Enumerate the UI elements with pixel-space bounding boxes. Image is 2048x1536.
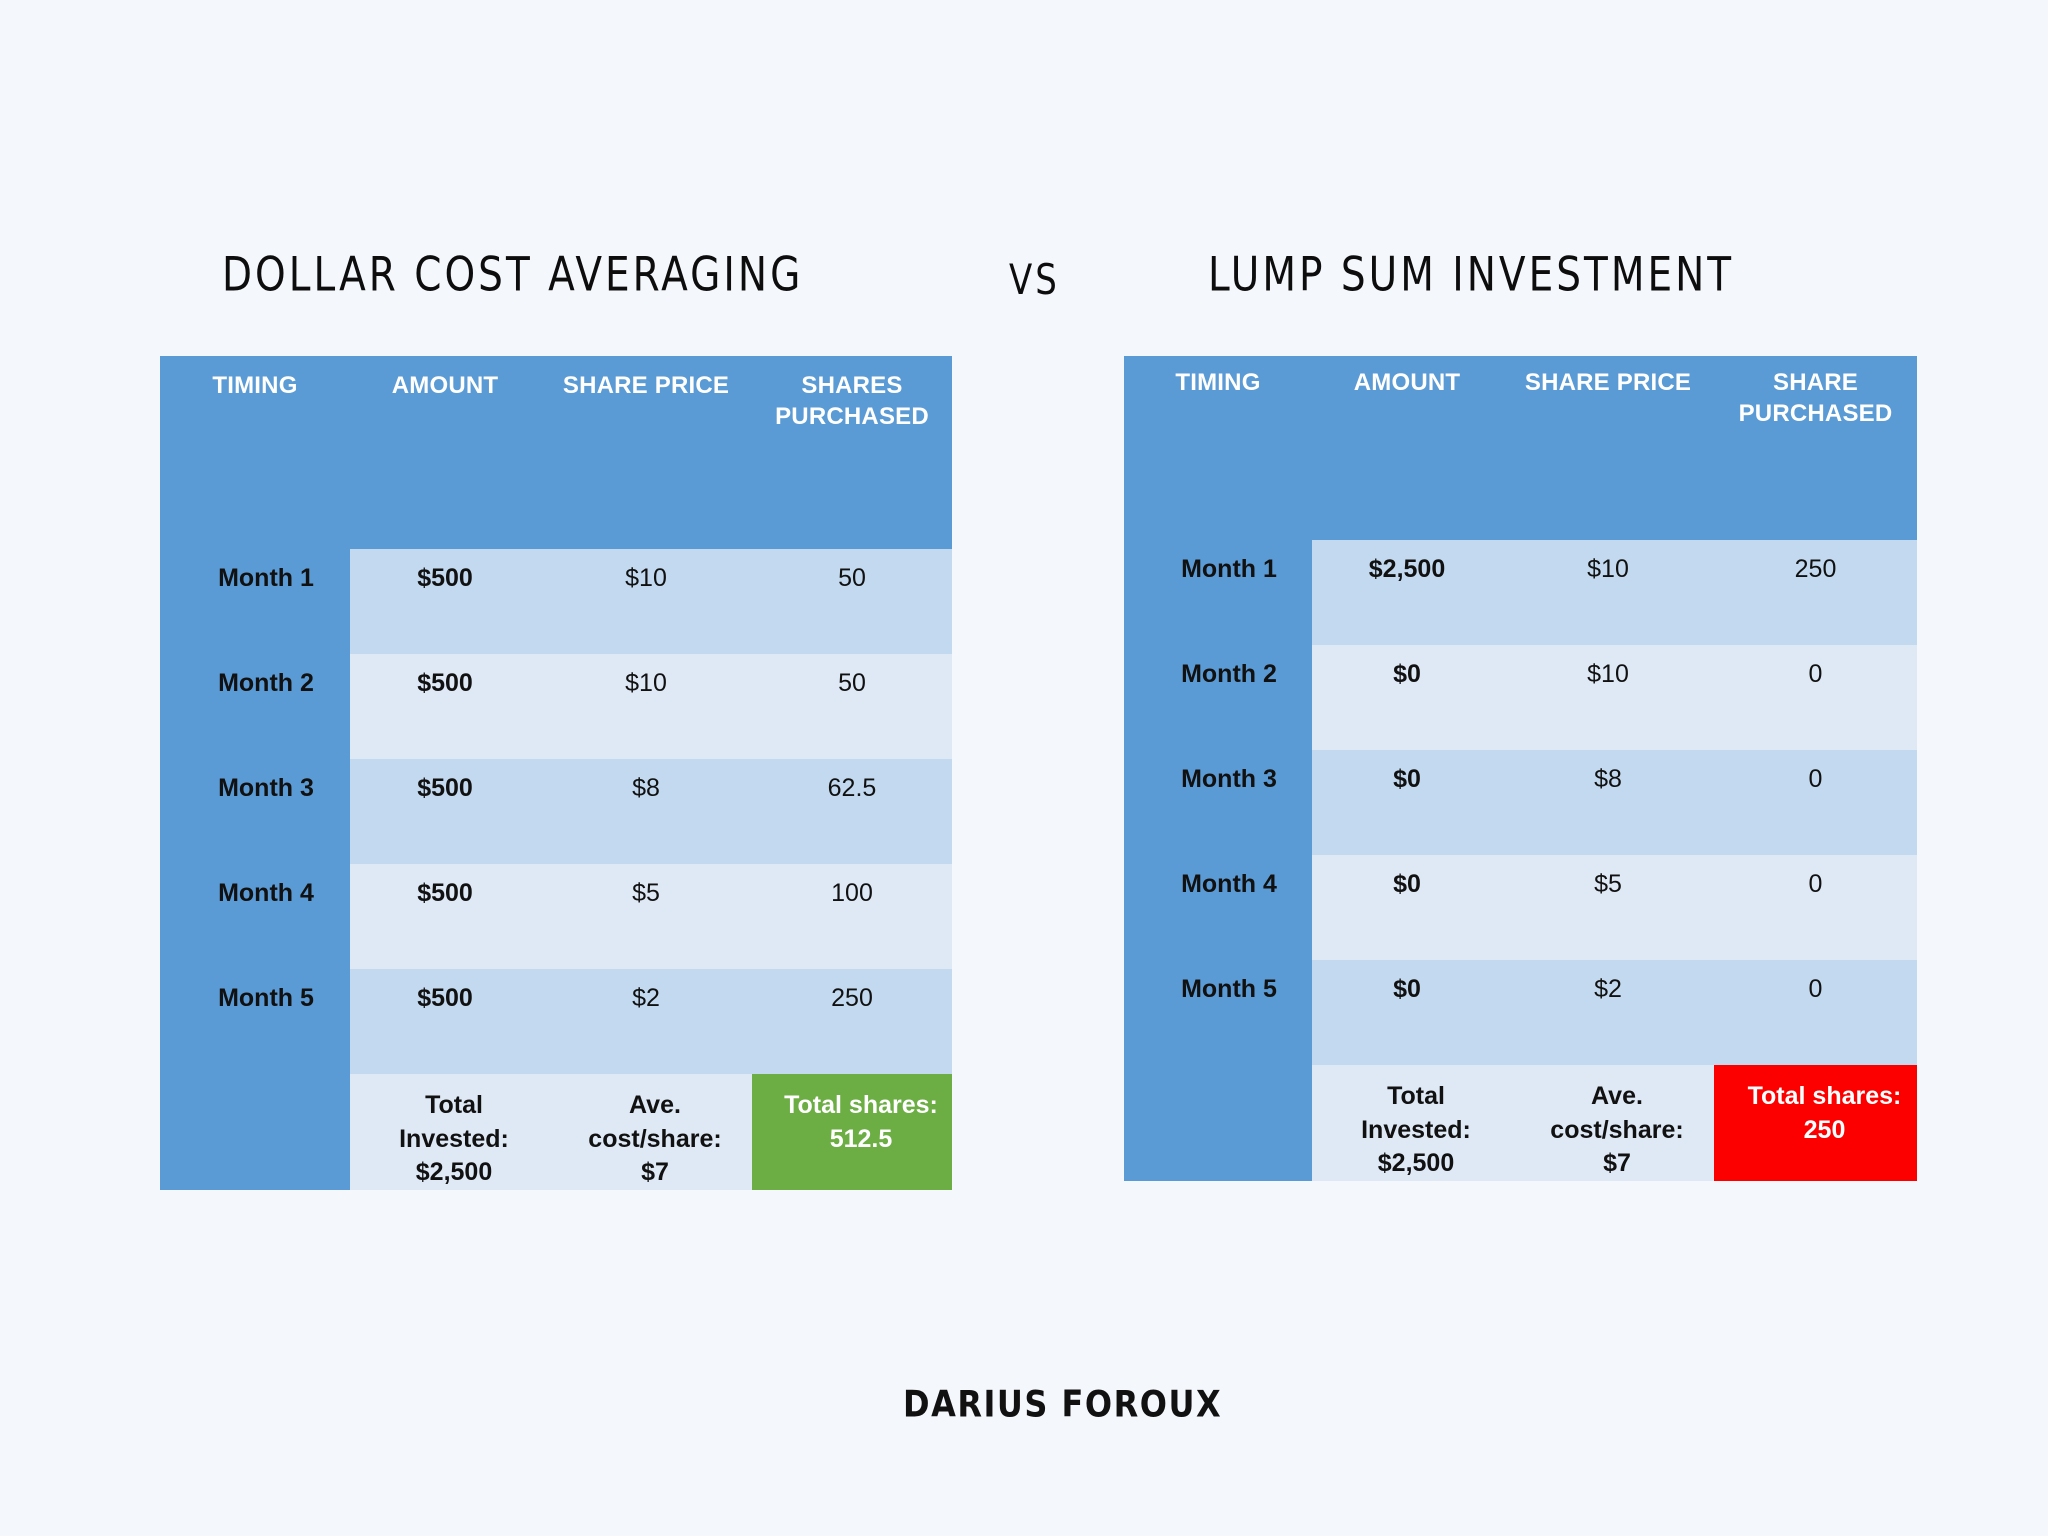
table-header-row: TIMING AMOUNT SHARE PRICE SHARES PURCHAS…: [160, 356, 952, 549]
table-row: Month 1 $2,500 $10 250: [1124, 540, 1917, 645]
column-header-share-price: SHARE PRICE: [1502, 356, 1714, 540]
cell-shares-purchased: 100: [752, 864, 952, 969]
column-header-shares-line2: PURCHASED: [775, 403, 929, 430]
cell-share-price: $10: [540, 654, 752, 759]
cell-amount: $500: [350, 969, 540, 1074]
title-versus: VS: [1009, 256, 1060, 305]
total-avg-line1: Ave.: [629, 1091, 681, 1119]
cell-timing: Month 3: [160, 759, 350, 864]
cell-shares-purchased: 0: [1714, 645, 1917, 750]
cell-timing: Month 3: [1124, 750, 1312, 855]
table-row: Month 3 $500 $8 62.5: [160, 759, 952, 864]
cell-timing: Month 1: [160, 549, 350, 654]
total-shares-label: Total shares:: [784, 1091, 938, 1119]
table-row: Month 1 $500 $10 50: [160, 549, 952, 654]
cell-shares-purchased: 50: [752, 654, 952, 759]
cell-timing: Month 4: [160, 864, 350, 969]
table-row: Month 4 $500 $5 100: [160, 864, 952, 969]
column-header-shares-purchased: SHARES PURCHASED: [752, 356, 952, 549]
cell-shares-purchased: 62.5: [752, 759, 952, 864]
cell-shares-purchased: 0: [1714, 750, 1917, 855]
cell-amount: $500: [350, 549, 540, 654]
total-invested-line1: Total: [425, 1091, 483, 1119]
lump-sum-investment-table: TIMING AMOUNT SHARE PRICE SHARE PURCHASE…: [1124, 356, 1917, 1181]
total-cell-empty: [1124, 1065, 1312, 1181]
cell-amount: $0: [1312, 855, 1502, 960]
cell-amount: $2,500: [1312, 540, 1502, 645]
column-header-shares-line2: PURCHASED: [1739, 400, 1893, 427]
cell-shares-purchased: 250: [752, 969, 952, 1074]
titles-row: DOLLAR COST AVERAGING VS LUMP SUM INVEST…: [0, 248, 2048, 328]
cell-timing: Month 2: [160, 654, 350, 759]
total-avg-line3: $7: [641, 1158, 669, 1186]
total-invested-line3: $2,500: [416, 1158, 492, 1186]
cell-share-price: $10: [1502, 540, 1714, 645]
table-header-row: TIMING AMOUNT SHARE PRICE SHARE PURCHASE…: [1124, 356, 1917, 540]
total-cell-invested: Total Invested: $2,500: [1312, 1065, 1502, 1181]
title-dollar-cost-averaging: DOLLAR COST AVERAGING: [222, 248, 803, 303]
cell-share-price: $5: [1502, 855, 1714, 960]
table-row: Month 4 $0 $5 0: [1124, 855, 1917, 960]
cell-timing: Month 4: [1124, 855, 1312, 960]
table-row: Month 3 $0 $8 0: [1124, 750, 1917, 855]
cell-amount: $0: [1312, 645, 1502, 750]
total-avg-line3: $7: [1603, 1149, 1631, 1177]
table-total-row: Total Invested: $2,500 Ave. cost/share: …: [160, 1074, 952, 1190]
column-header-timing: TIMING: [1124, 356, 1312, 540]
cell-amount: $500: [350, 759, 540, 864]
cell-timing: Month 5: [160, 969, 350, 1074]
cell-share-price: $8: [1502, 750, 1714, 855]
total-avg-line1: Ave.: [1591, 1082, 1643, 1110]
total-invested-line3: $2,500: [1378, 1149, 1454, 1177]
total-cell-empty: [160, 1074, 350, 1190]
total-cell-shares-highlight: Total shares: 512.5: [752, 1074, 952, 1190]
cell-amount: $0: [1312, 960, 1502, 1065]
dollar-cost-averaging-table: TIMING AMOUNT SHARE PRICE SHARES PURCHAS…: [160, 356, 952, 1190]
column-header-timing: TIMING: [160, 356, 350, 549]
column-header-shares-line1: SHARE: [1773, 369, 1858, 396]
column-header-share-purchased: SHARE PURCHASED: [1714, 356, 1917, 540]
total-cell-shares-highlight: Total shares: 250: [1714, 1065, 1917, 1181]
cell-share-price: $2: [540, 969, 752, 1074]
total-avg-line2: cost/share:: [1550, 1116, 1683, 1144]
column-header-amount: AMOUNT: [1312, 356, 1502, 540]
column-header-amount: AMOUNT: [350, 356, 540, 549]
cell-amount: $0: [1312, 750, 1502, 855]
total-invested-line1: Total: [1387, 1082, 1445, 1110]
cell-share-price: $10: [540, 549, 752, 654]
cell-shares-purchased: 0: [1714, 960, 1917, 1065]
title-lump-sum-investment: LUMP SUM INVESTMENT: [1208, 248, 1734, 303]
total-avg-line2: cost/share:: [588, 1125, 721, 1153]
total-shares-value: 512.5: [830, 1125, 893, 1153]
cell-amount: $500: [350, 864, 540, 969]
total-cell-avg-cost: Ave. cost/share: $7: [1502, 1065, 1714, 1181]
cell-timing: Month 2: [1124, 645, 1312, 750]
total-invested-line2: Invested:: [1361, 1116, 1471, 1144]
cell-share-price: $2: [1502, 960, 1714, 1065]
total-invested-line2: Invested:: [399, 1125, 509, 1153]
cell-shares-purchased: 0: [1714, 855, 1917, 960]
column-header-share-price: SHARE PRICE: [540, 356, 752, 549]
total-shares-value: 250: [1804, 1116, 1846, 1144]
cell-shares-purchased: 50: [752, 549, 952, 654]
author-signature: DARIUS FOROUX: [903, 1382, 1222, 1426]
total-cell-avg-cost: Ave. cost/share: $7: [540, 1074, 752, 1190]
table-row: Month 2 $500 $10 50: [160, 654, 952, 759]
cell-share-price: $5: [540, 864, 752, 969]
table-total-row: Total Invested: $2,500 Ave. cost/share: …: [1124, 1065, 1917, 1181]
total-cell-invested: Total Invested: $2,500: [350, 1074, 540, 1190]
total-shares-label: Total shares:: [1748, 1082, 1902, 1110]
cell-share-price: $8: [540, 759, 752, 864]
table-row: Month 5 $500 $2 250: [160, 969, 952, 1074]
cell-amount: $500: [350, 654, 540, 759]
cell-share-price: $10: [1502, 645, 1714, 750]
cell-shares-purchased: 250: [1714, 540, 1917, 645]
cell-timing: Month 5: [1124, 960, 1312, 1065]
column-header-shares-line1: SHARES: [801, 372, 902, 399]
table-row: Month 2 $0 $10 0: [1124, 645, 1917, 750]
table-row: Month 5 $0 $2 0: [1124, 960, 1917, 1065]
cell-timing: Month 1: [1124, 540, 1312, 645]
